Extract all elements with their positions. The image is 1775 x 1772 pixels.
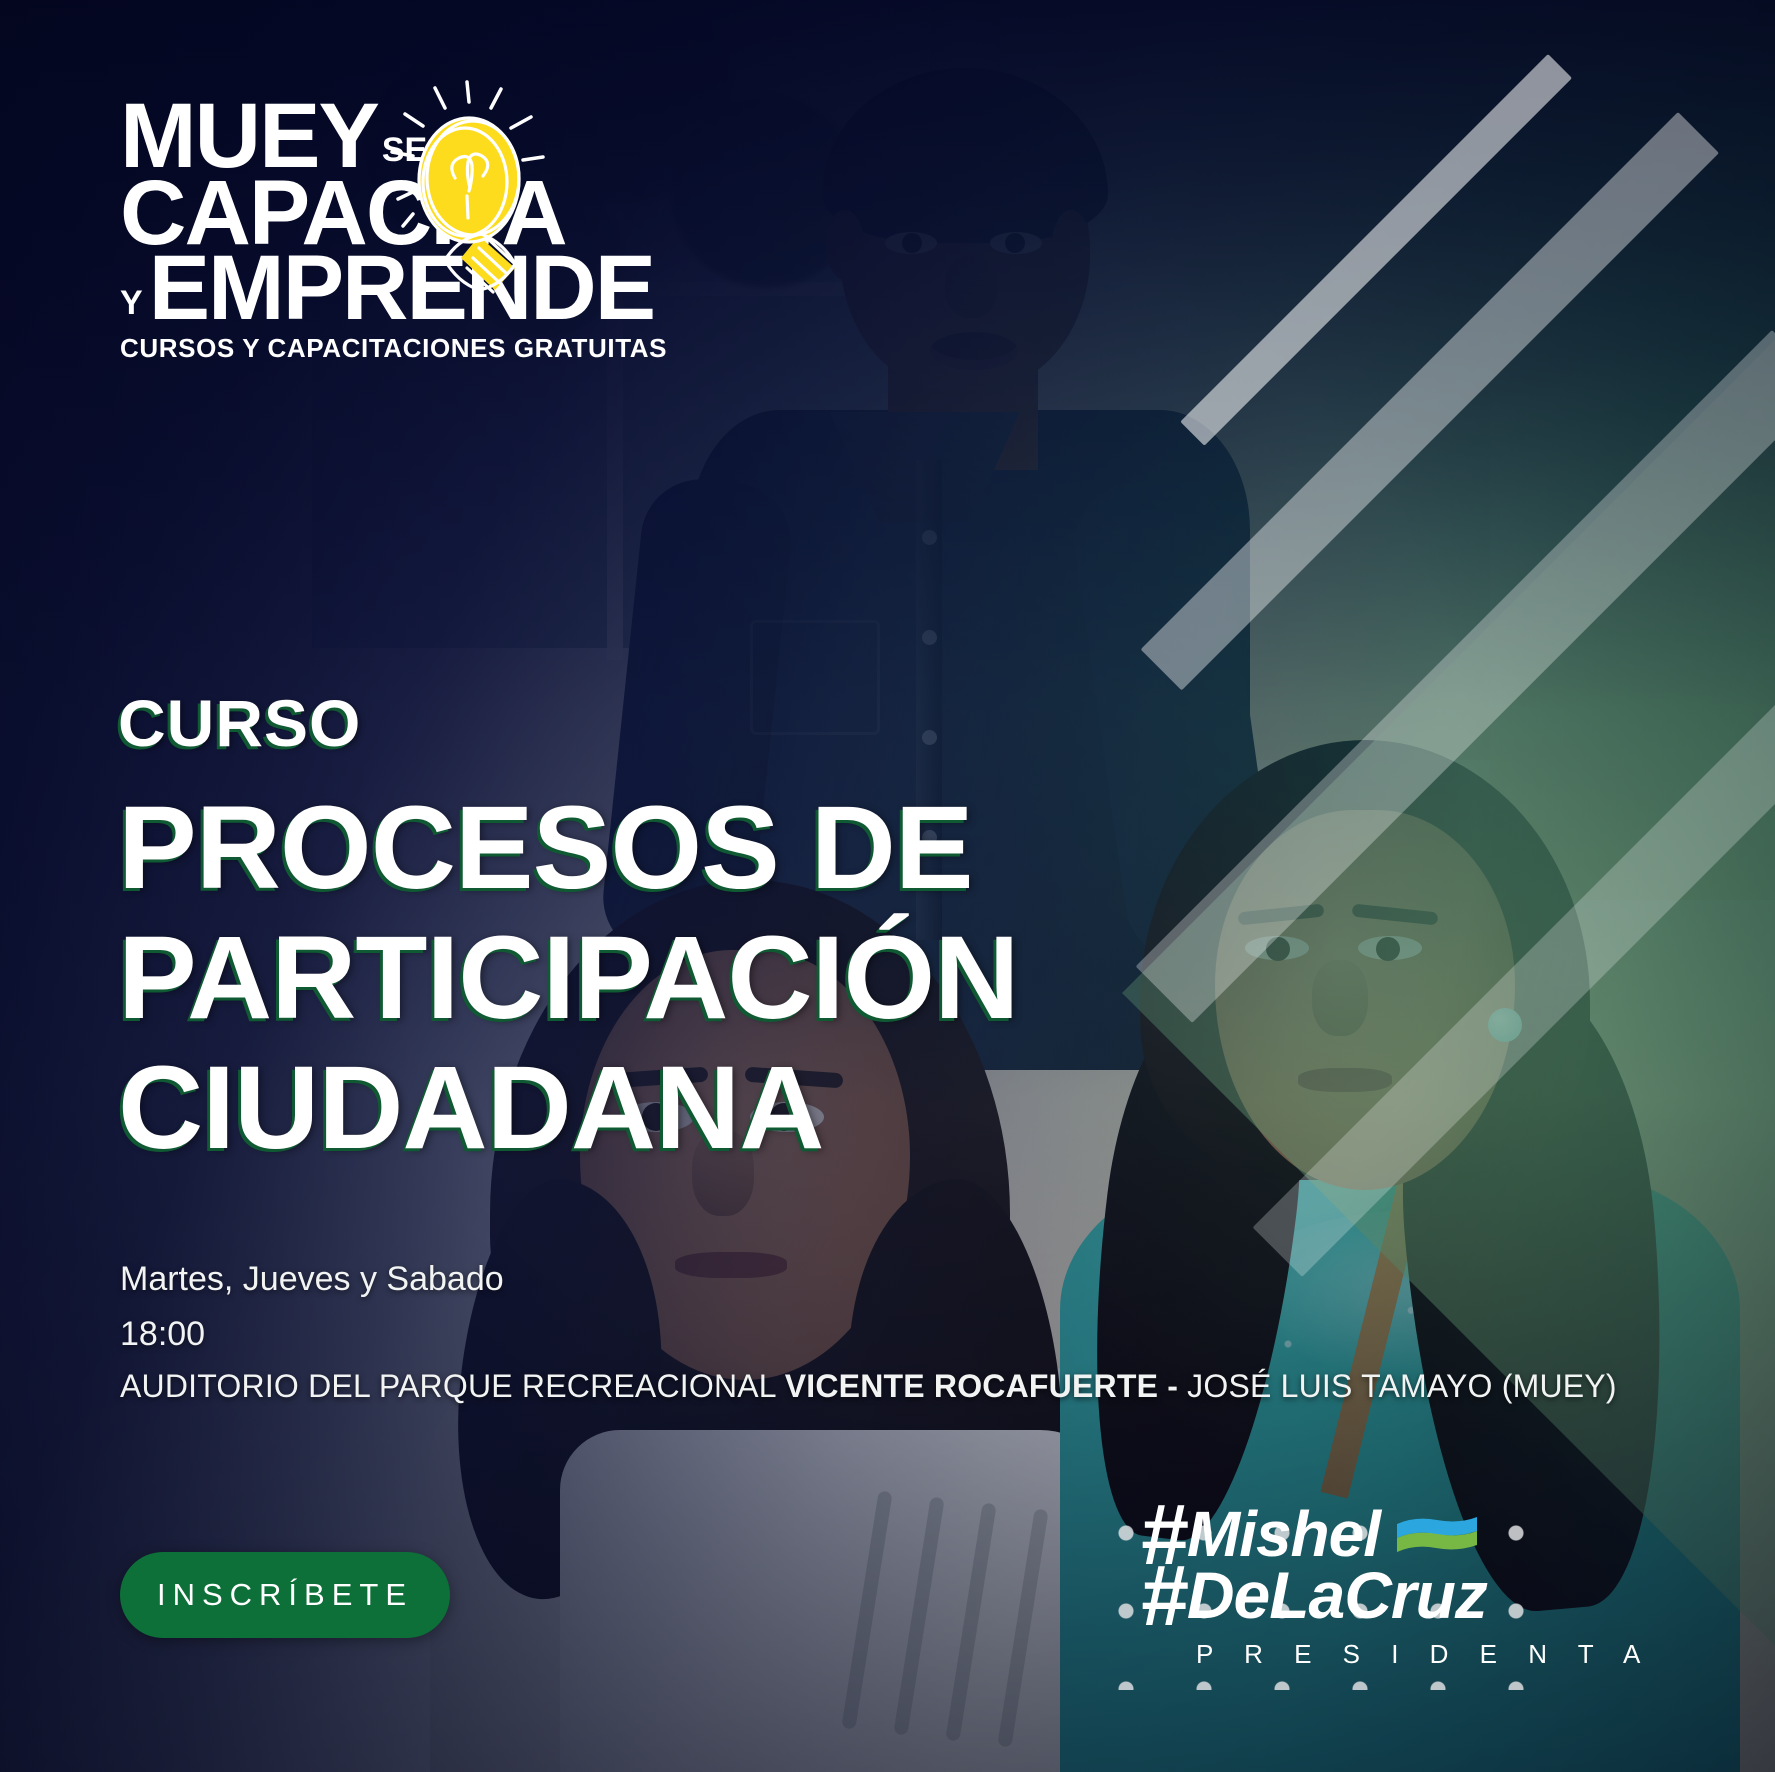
venue-highlight: VICENTE ROCAFUERTE - [785,1368,1178,1404]
headline-block: CURSO PROCESOS DE PARTICIPACIÓN CIUDADAN… [118,690,1678,1173]
enroll-button[interactable]: INSCRÍBETE [120,1552,450,1638]
venue-suffix: JOSÉ LUIS TAMAYO (MUEY) [1178,1368,1617,1404]
campaign-name-first: Mishel [1187,1506,1380,1564]
event-details: Martes, Jueves y Sabado 18:00 AUDITORIO … [120,1252,1617,1405]
course-title-line-1: PROCESOS DE [118,784,1678,914]
campaign-role: P R E S I D E N T A [1196,1639,1700,1670]
lightbulb-icon [383,86,553,316]
campaign-logo: # Mishel # DeLaCruz P R E S I D E N T A [1140,1500,1700,1670]
logo-tagline: CURSOS Y CAPACITACIONES GRATUITAS [120,333,760,364]
event-days: Martes, Jueves y Sabado [120,1252,1617,1307]
flag-brush-icon [1394,1514,1480,1556]
venue-prefix: AUDITORIO DEL PARQUE RECREACIONAL [120,1368,785,1404]
hashtag-icon-secondary: # [1140,1561,1185,1632]
event-venue: AUDITORIO DEL PARQUE RECREACIONAL VICENT… [120,1368,1617,1405]
event-time: 18:00 [120,1307,1617,1362]
logo-y-text: Y [120,289,143,319]
campaign-name-last: DeLaCruz [1187,1566,1487,1625]
promotional-poster: MUEY SE CAPACITA Y EMPRENDE CURSOS Y CAP… [0,0,1775,1772]
course-kicker: CURSO [118,690,1678,756]
course-title-line-2: PARTICIPACIÓN CIUDADANA [118,914,1678,1174]
